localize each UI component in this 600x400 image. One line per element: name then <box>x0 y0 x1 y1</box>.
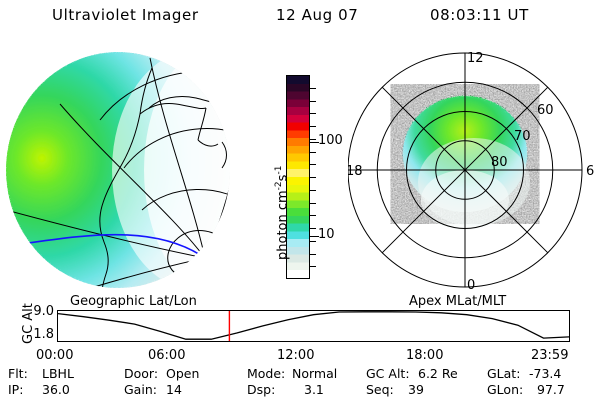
status-gcalt-key: GC Alt: <box>366 366 410 381</box>
observation-time: 08:03:11 UT <box>430 6 529 24</box>
polar-grid <box>348 53 582 287</box>
status-bar: Flt:LBHL Door:Open Mode:Normal GC Alt:6.… <box>0 366 600 398</box>
observation-date: 12 Aug 07 <box>276 6 358 24</box>
orbit-xtick-0: 00:00 <box>36 348 73 363</box>
status-glat-key: GLat: <box>487 366 520 381</box>
status-row: Flt:LBHL Door:Open Mode:Normal GC Alt:6.… <box>0 366 600 381</box>
mlat-label-70: 70 <box>514 129 531 144</box>
status-glat-value: -73.4 <box>529 366 561 381</box>
status-ip-value: 36.0 <box>42 382 70 397</box>
colorbar-ticks <box>310 75 317 279</box>
status-flt-key: Flt: <box>8 366 28 381</box>
colorbar-axis-title: photon cm-2s-1 <box>258 92 278 262</box>
status-seq-key: Seq: <box>366 382 394 397</box>
status-glon-key: GLon: <box>487 382 523 397</box>
status-gain-value: 14 <box>166 382 182 397</box>
status-door-value: Open <box>166 366 199 381</box>
geographic-image-panel[interactable] <box>0 42 256 292</box>
colorbar-tick-label-100: 100 <box>318 133 343 148</box>
status-mode-key: Mode: <box>247 366 285 381</box>
orbit-xtick-3: 18:00 <box>406 348 443 363</box>
mlt-label-6: 6 <box>586 164 594 179</box>
colorbar-tick-label-10: 10 <box>318 227 335 242</box>
status-dsp-value: 3.1 <box>304 382 324 397</box>
status-gain-key: Gain: <box>124 382 157 397</box>
colorbar-unit-mid: s <box>275 175 290 182</box>
uvi-summary-plot: Ultraviolet Imager 12 Aug 07 08:03:11 UT <box>0 0 600 400</box>
aurora-emission-geographic <box>6 48 256 292</box>
mlt-label-0: 0 <box>467 278 475 292</box>
status-door-key: Door: <box>124 366 158 381</box>
status-gcalt-value: 6.2 Re <box>418 366 458 381</box>
geographic-globe <box>0 42 256 292</box>
status-ip-key: IP: <box>8 382 23 397</box>
apex-polar-panel[interactable]: 12 6 18 0 60 70 80 <box>348 42 600 292</box>
mlat-label-80: 80 <box>491 155 508 170</box>
colorbar-unit-exp1: -2 <box>274 181 284 190</box>
mlt-label-12: 12 <box>467 51 484 66</box>
instrument-title: Ultraviolet Imager <box>52 6 199 24</box>
orbit-xtick-1: 06:00 <box>148 348 185 363</box>
status-seq-value: 39 <box>408 382 424 397</box>
status-glon-value: 97.7 <box>537 382 565 397</box>
orbit-xtick-4: 23:59 <box>531 348 568 363</box>
mlat-label-60: 60 <box>537 103 554 118</box>
mlt-label-18: 18 <box>348 164 363 179</box>
status-dsp-key: Dsp: <box>247 382 275 397</box>
orbit-xtick-2: 12:00 <box>277 348 314 363</box>
orbit-chart-svg <box>0 305 600 347</box>
orbit-altitude-chart[interactable] <box>0 305 600 347</box>
colorbar-unit-exp2: -1 <box>274 166 284 175</box>
colorbar-unit-main: photon cm <box>275 190 290 260</box>
status-mode-value: Normal <box>292 366 337 381</box>
status-flt-value: LBHL <box>42 366 74 381</box>
header: Ultraviolet Imager 12 Aug 07 08:03:11 UT <box>0 6 600 30</box>
status-row: IP:36.0 Gain:14 Dsp:3.1 Seq:39 GLon:97.7 <box>0 382 600 397</box>
apex-polar-plot: 12 6 18 0 60 70 80 <box>348 42 600 292</box>
